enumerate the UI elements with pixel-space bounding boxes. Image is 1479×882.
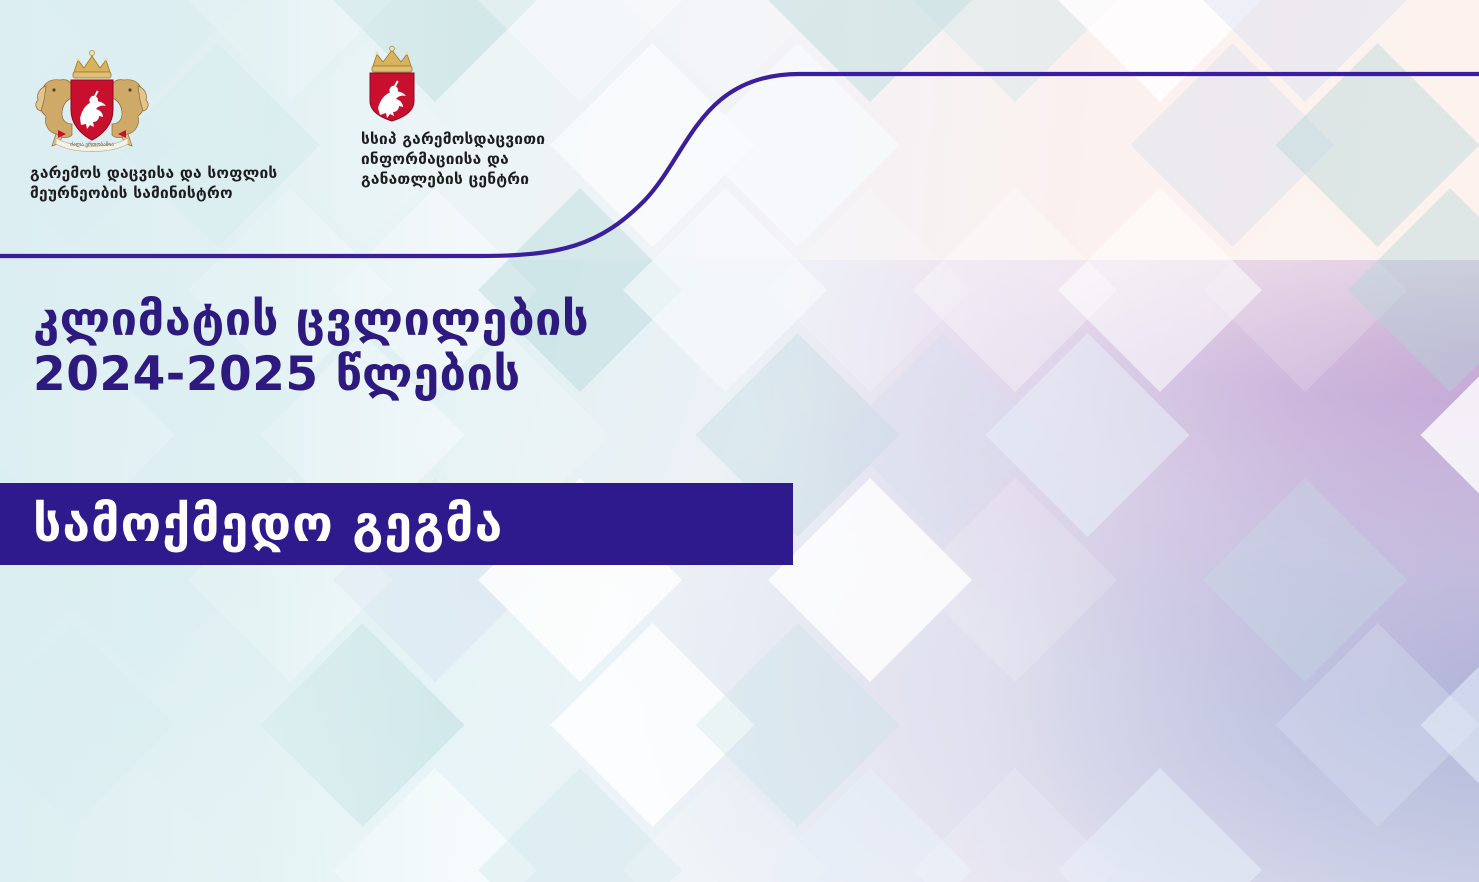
- title-line-2: 2024-2025 წლების: [33, 347, 589, 402]
- ministry-logo-block: ძალა ერთობაშია გარემოს დაცვისა და სოფლის…: [30, 46, 330, 204]
- banner-text: სამოქმედო გეგმა: [33, 495, 503, 553]
- title-line-1: კლიმატის ცვლილების: [33, 292, 589, 347]
- cover-page: ძალა ერთობაშია გარემოს დაცვისა და სოფლის…: [0, 0, 1479, 882]
- crown-icon: [372, 46, 412, 72]
- ministry-name: გარემოს დაცვისა და სოფლის მეურნეობის სამ…: [30, 164, 330, 204]
- agency-name: სსიპ გარემოსდაცვითი ინფორმაციისა და განა…: [361, 130, 621, 189]
- title-block: კლიმატის ცვლილების 2024-2025 წლების: [33, 292, 589, 402]
- crown-icon: [73, 50, 111, 78]
- agency-logo-block: სსიპ გარემოსდაცვითი ინფორმაციისა და განა…: [361, 46, 621, 189]
- georgia-shield-crown-icon: [361, 46, 423, 122]
- georgia-coat-of-arms-icon: ძალა ერთობაშია: [30, 46, 154, 154]
- svg-text:ძალა ერთობაშია: ძალა ერთობაშია: [70, 141, 114, 148]
- logo-row: ძალა ერთობაშია გარემოს დაცვისა და სოფლის…: [0, 0, 640, 200]
- title-banner: სამოქმედო გეგმა: [0, 483, 793, 565]
